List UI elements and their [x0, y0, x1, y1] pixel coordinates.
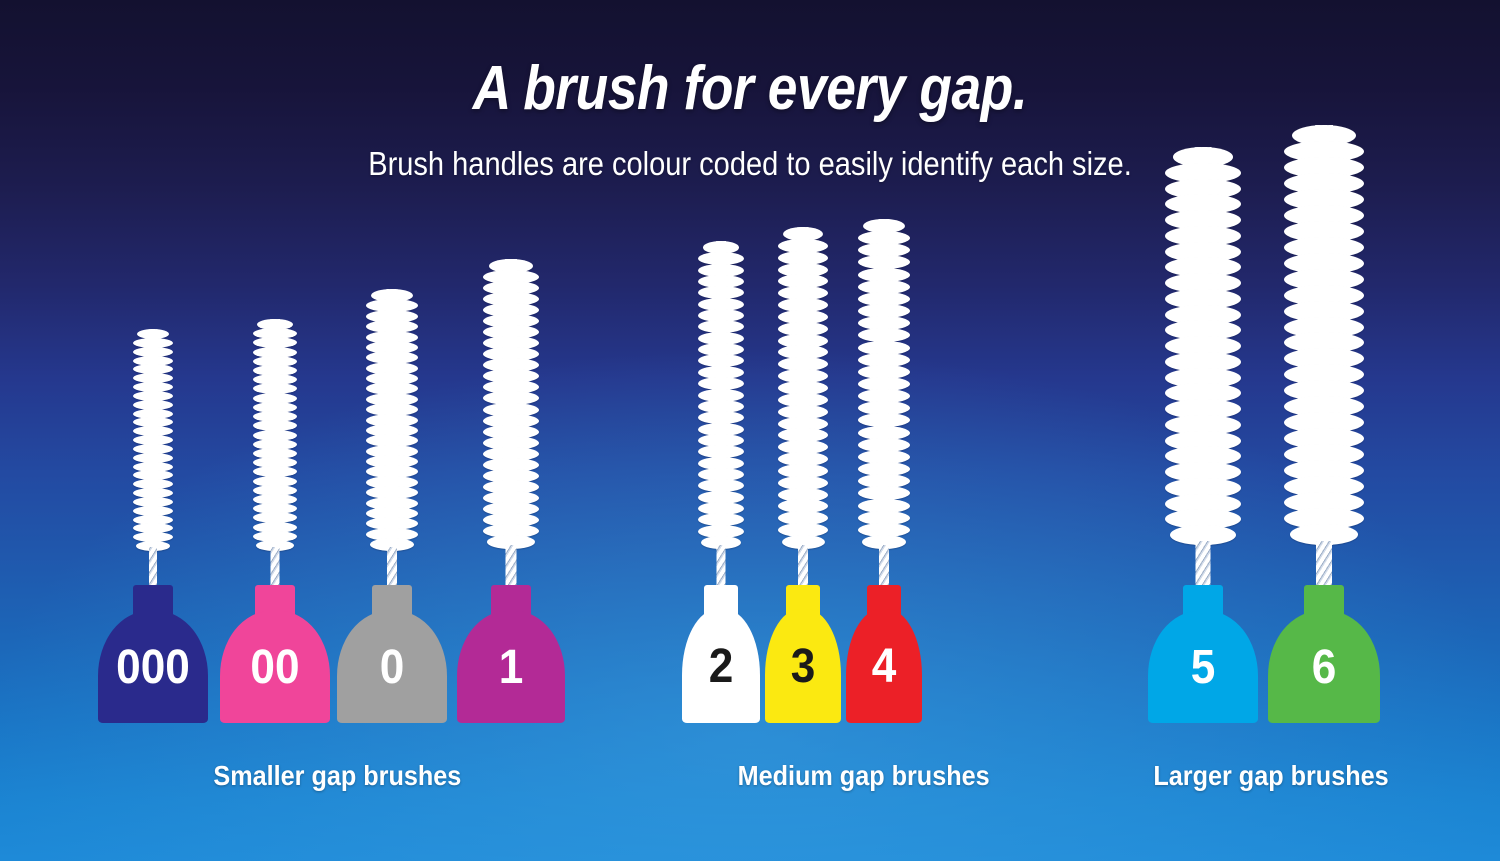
- brush-handle-2: 2: [682, 585, 760, 723]
- brush-size-000: 000: [98, 329, 208, 723]
- brush-handle-4: 4: [846, 585, 922, 723]
- brush-size-6: 6: [1268, 125, 1380, 723]
- handle-body: [1268, 611, 1380, 723]
- group-caption-smaller: Smaller gap brushes: [213, 762, 454, 790]
- brush-handle-1: 1: [457, 585, 565, 723]
- brush-size-0: 0: [337, 289, 447, 723]
- brush-head: [133, 329, 173, 551]
- brush-head: [858, 219, 910, 549]
- brush-stem: [1196, 541, 1211, 591]
- brush-head: [1284, 125, 1364, 545]
- handle-body: [98, 611, 208, 723]
- brush-head: [698, 241, 744, 549]
- poster-canvas: A brush for every gap. Brush handles are…: [0, 0, 1500, 861]
- brush-head: [778, 227, 828, 549]
- brush-size-3: 3: [765, 227, 841, 723]
- handle-body: [337, 611, 447, 723]
- brush-size-1: 1: [457, 259, 565, 723]
- brush-handle-000: 000: [98, 585, 208, 723]
- handle-body: [220, 611, 330, 723]
- brush-head: [483, 259, 539, 549]
- group-caption-medium: Medium gap brushes: [738, 762, 983, 790]
- brush-handle-6: 6: [1268, 585, 1380, 723]
- brush-size-2: 2: [682, 241, 760, 723]
- brush-chart: 0000001Smaller gap brushes234Medium gap …: [0, 0, 1500, 861]
- group-caption-larger: Larger gap brushes: [1153, 762, 1389, 790]
- handle-body: [1148, 611, 1258, 723]
- brush-handle-3: 3: [765, 585, 841, 723]
- brush-handle-0: 0: [337, 585, 447, 723]
- brush-head: [1165, 147, 1241, 545]
- handle-body: [682, 609, 760, 723]
- brush-stem: [1316, 541, 1332, 591]
- brush-size-4: 4: [846, 219, 922, 723]
- brush-head: [253, 319, 297, 551]
- handle-body: [765, 609, 841, 723]
- brush-head: [366, 289, 418, 551]
- brush-size-5: 5: [1148, 147, 1258, 723]
- brush-size-00: 00: [220, 319, 330, 723]
- brush-handle-00: 00: [220, 585, 330, 723]
- handle-body: [846, 609, 922, 723]
- handle-body: [457, 611, 565, 723]
- brush-handle-5: 5: [1148, 585, 1258, 723]
